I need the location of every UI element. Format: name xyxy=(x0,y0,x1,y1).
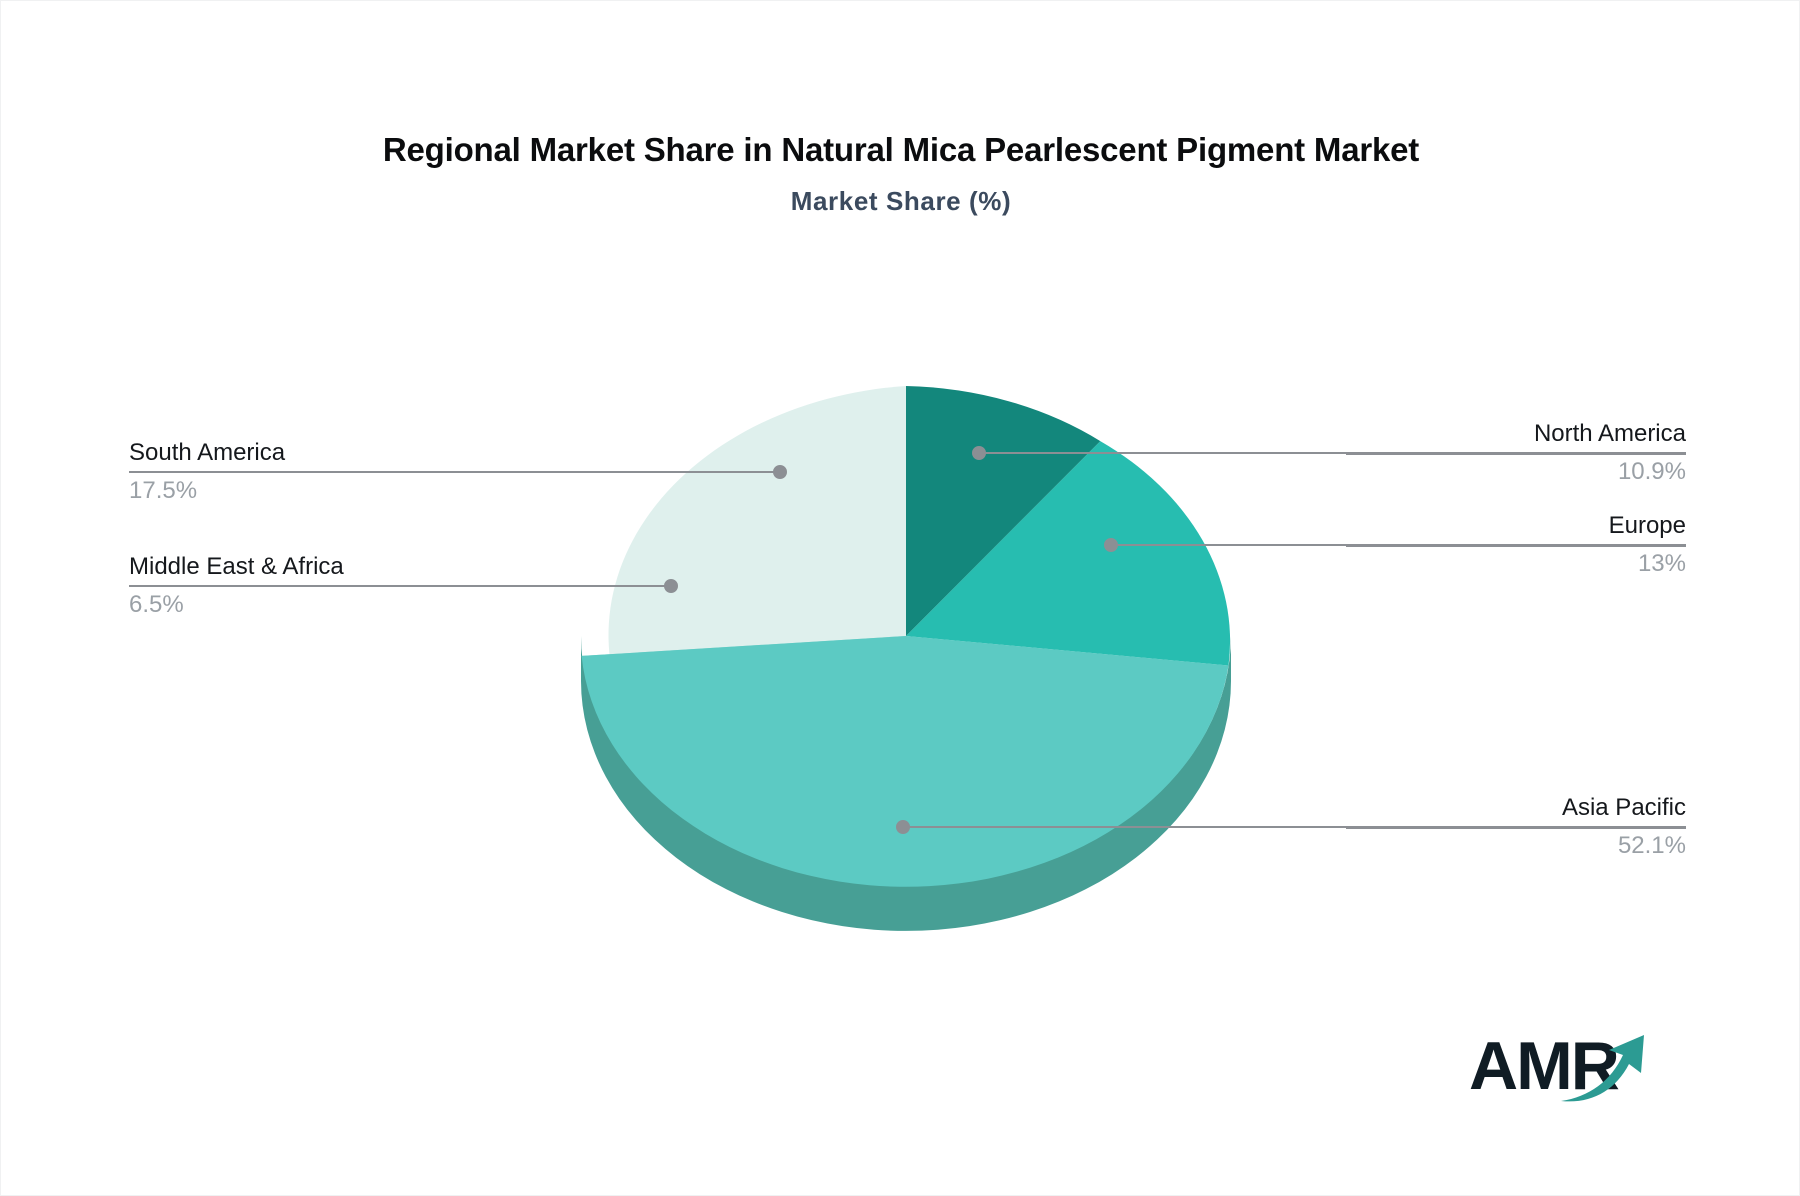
callout-label-south-america: South America xyxy=(129,438,489,468)
callout-south-america: South America 17.5% xyxy=(129,438,489,506)
callout-middle-east-africa: Middle East & Africa 6.5% xyxy=(129,552,489,620)
callout-asia-pacific: Asia Pacific 52.1% xyxy=(1346,793,1686,861)
callout-europe: Europe 13% xyxy=(1346,511,1686,579)
leader-dot-south-america xyxy=(774,466,786,478)
leader-dot-middle-east-africa xyxy=(665,580,677,592)
amr-logo: AMR xyxy=(1469,1023,1654,1109)
callout-label-north-america: North America xyxy=(1346,419,1686,449)
callout-north-america: North America 10.9% xyxy=(1346,419,1686,487)
callout-value-north-america: 10.9% xyxy=(1346,457,1686,487)
pie-slices xyxy=(582,386,1230,887)
callout-rule-north-america xyxy=(1346,453,1686,455)
arrow-swoosh-icon xyxy=(1469,1023,1654,1109)
callout-label-middle-east-africa: Middle East & Africa xyxy=(129,552,489,582)
callout-value-middle-east-africa: 6.5% xyxy=(129,590,489,620)
leader-dot-europe xyxy=(1105,539,1117,551)
callout-value-asia-pacific: 52.1% xyxy=(1346,831,1686,861)
callout-rule-europe xyxy=(1346,545,1686,547)
callout-label-asia-pacific: Asia Pacific xyxy=(1346,793,1686,823)
callout-label-europe: Europe xyxy=(1346,511,1686,541)
chart-canvas: Regional Market Share in Natural Mica Pe… xyxy=(0,0,1800,1196)
callout-rule-asia-pacific xyxy=(1346,827,1686,829)
callout-value-south-america: 17.5% xyxy=(129,476,489,506)
leader-dot-north-america xyxy=(973,447,985,459)
callout-value-europe: 13% xyxy=(1346,549,1686,579)
leader-dot-asia-pacific xyxy=(897,821,909,833)
